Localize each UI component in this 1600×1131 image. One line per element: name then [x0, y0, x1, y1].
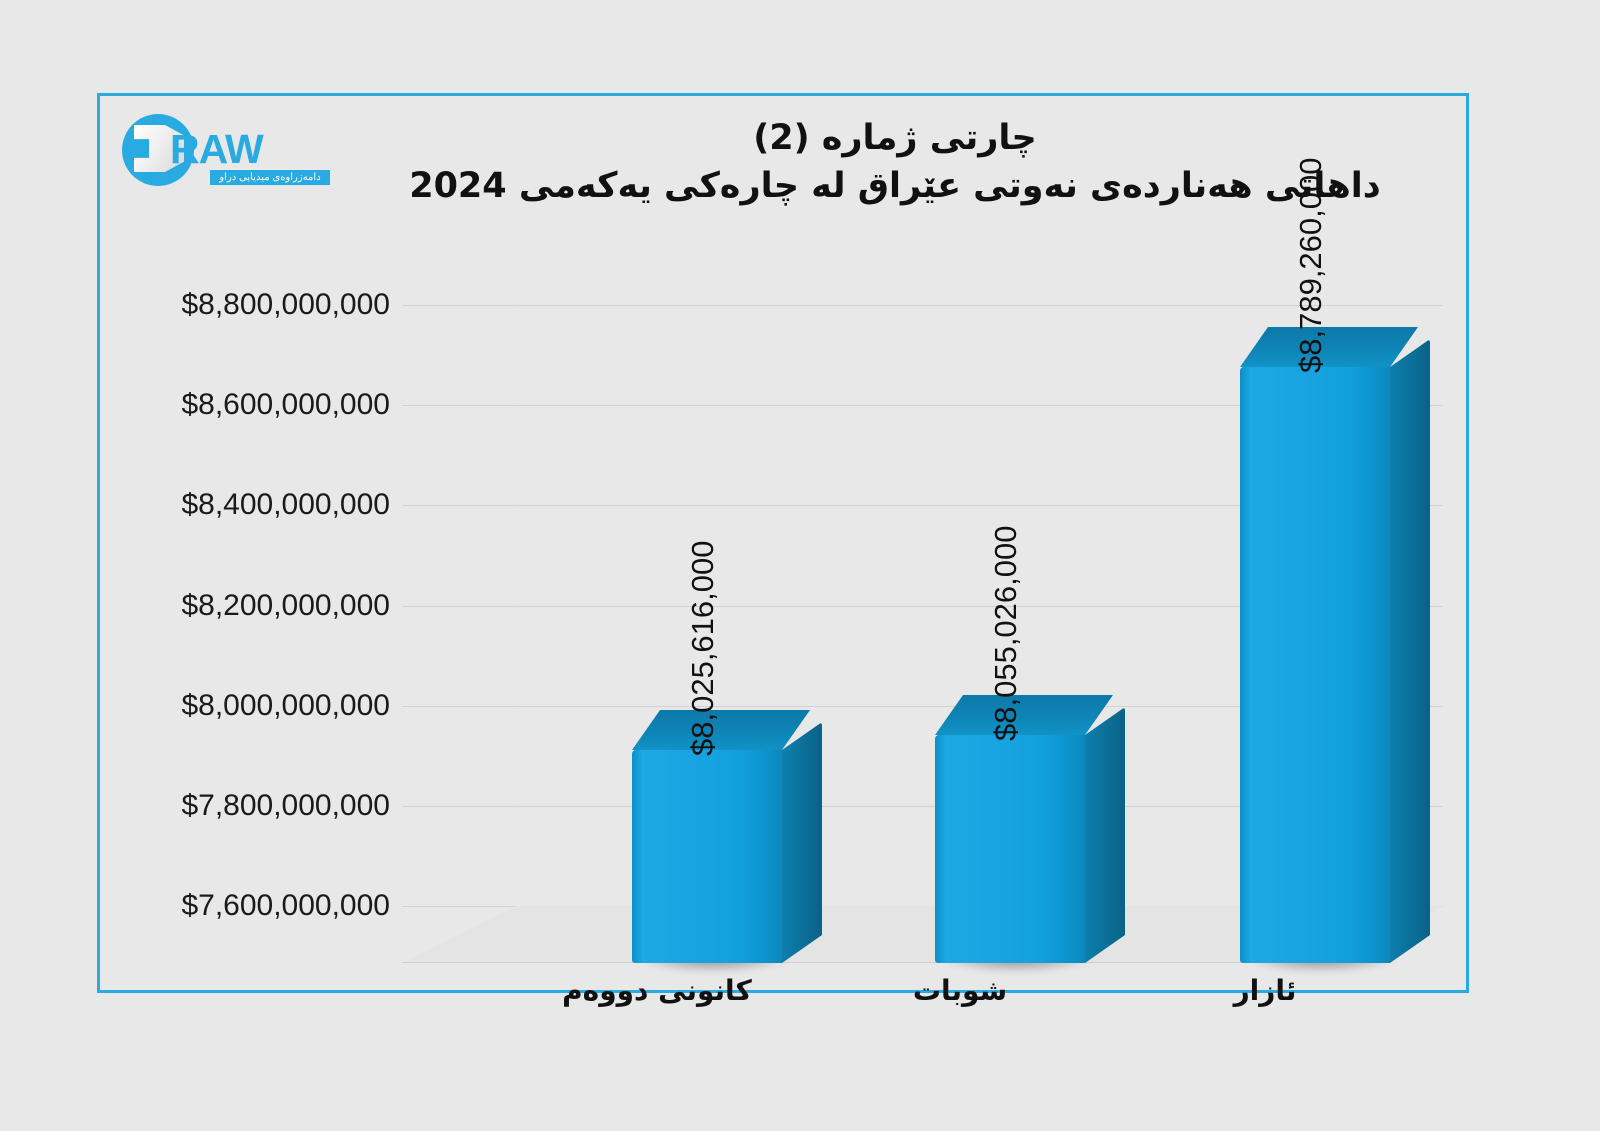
y-axis-tick-label: $7,800,000,000: [140, 789, 390, 823]
bar-front-face: [1240, 367, 1390, 963]
y-axis-tick-label: $8,400,000,000: [140, 488, 390, 522]
bar-value-label: $8,025,616,000: [685, 540, 721, 756]
bar-top-face: [632, 710, 810, 750]
bar-side-face: [782, 722, 822, 963]
bar[interactable]: $8,055,026,000: [935, 735, 1085, 963]
floor-edge-bottom: [403, 962, 1331, 963]
bar-top-face: [1240, 327, 1418, 367]
y-axis-tick-label: $7,600,000,000: [140, 889, 390, 923]
logo-wordmark: RAW: [170, 126, 263, 173]
bar-side-face: [1390, 339, 1430, 963]
gridline: [403, 305, 1443, 306]
chart-title-line2: داهاتی هەناردەی نەوتی عێراق لە چارەکی یە…: [340, 162, 1450, 210]
draw-logo: RAW دامەزراوەی میدیایی دراو: [122, 112, 332, 190]
chart-title-block: چارتی ژماره (2) داهاتی هەناردەی نەوتی عێ…: [340, 114, 1450, 211]
bar-value-label: $8,789,260,000: [1293, 158, 1329, 374]
bar-top-face: [935, 695, 1113, 735]
bar-value-label: $8,055,026,000: [988, 526, 1024, 742]
chart-title-line1: چارتی ژماره (2): [340, 114, 1450, 162]
logo-subtitle: دامەزراوەی میدیایی دراو: [210, 170, 330, 185]
bar-front-face: [632, 750, 782, 963]
y-axis-tick-label: $8,000,000,000: [140, 689, 390, 723]
bar-side-face: [1085, 707, 1125, 963]
chart-frame: RAW دامەزراوەی میدیایی دراو چارتی ژماره …: [97, 93, 1469, 993]
x-axis-label: شوبات: [913, 974, 1007, 1007]
bar-front-face: [935, 735, 1085, 963]
y-axis-tick-label: $8,800,000,000: [140, 288, 390, 322]
y-axis-tick-label: $8,200,000,000: [140, 589, 390, 623]
x-axis-label: کانونی دووەم: [562, 974, 752, 1007]
x-axis-label: ئازار: [1234, 974, 1297, 1007]
y-axis-tick-label: $8,600,000,000: [140, 388, 390, 422]
bar[interactable]: $8,789,260,000: [1240, 367, 1390, 963]
bar[interactable]: $8,025,616,000: [632, 750, 782, 963]
plot-area: $7,600,000,000$7,800,000,000$8,000,000,0…: [100, 246, 1472, 1006]
